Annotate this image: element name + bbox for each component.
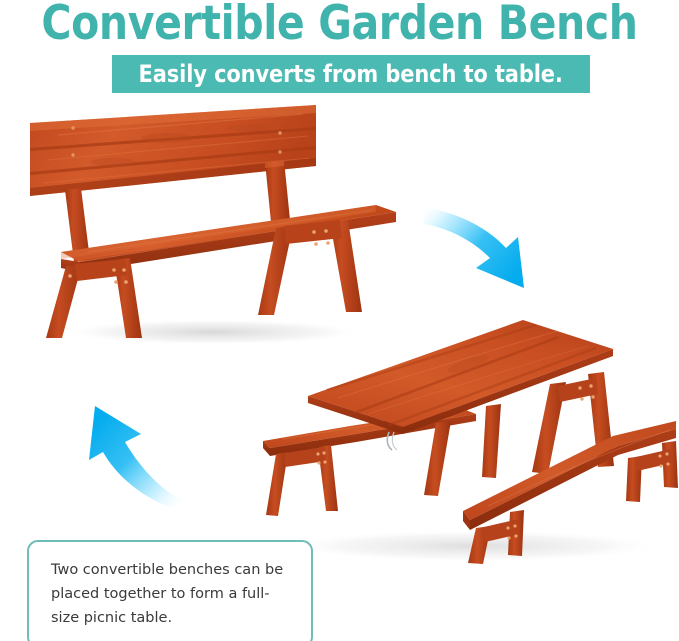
arrow-down-right-icon	[420, 196, 550, 296]
arrow-body	[89, 406, 181, 510]
arrow-body	[422, 208, 524, 288]
arrow-table-to-bench	[57, 392, 182, 512]
picnic-table-illustration	[258, 306, 679, 566]
caption-text: Two convertible benches can be placed to…	[51, 558, 291, 630]
product-infographic: Convertible Garden Bench Easily converts…	[0, 0, 679, 641]
arrow-bench-to-table	[420, 196, 550, 296]
picnic-table-image	[258, 306, 679, 566]
caption-box: Two convertible benches can be placed to…	[27, 540, 313, 641]
subtitle-text: Easily converts from bench to table.	[139, 60, 563, 88]
arrow-up-left-icon	[57, 392, 182, 512]
subtitle-banner: Easily converts from bench to table.	[112, 55, 590, 93]
page-title: Convertible Garden Bench	[10, 0, 669, 51]
